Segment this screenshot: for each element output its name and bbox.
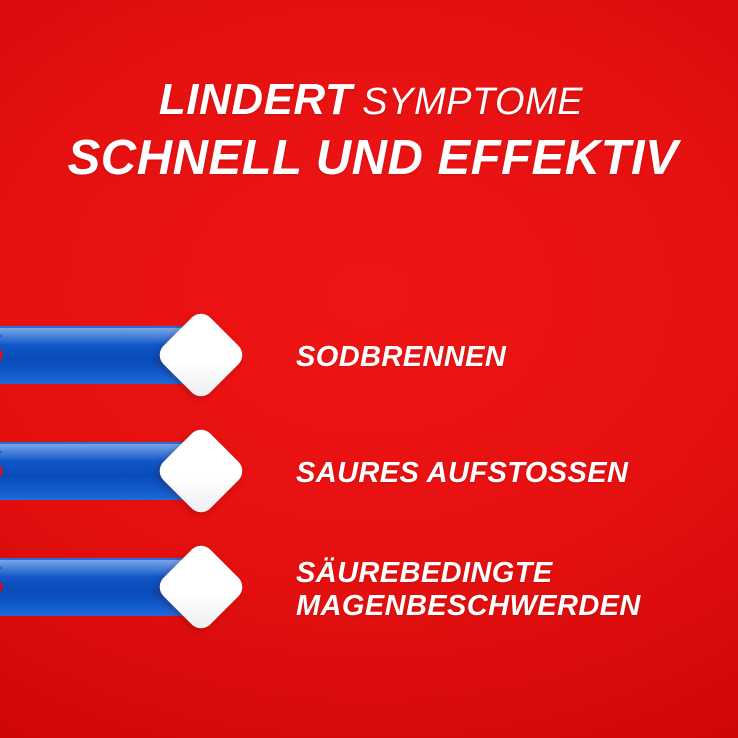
blue-bar-graphic xyxy=(0,438,268,504)
headline-line-2: SCHNELL UND EFFEKTIV xyxy=(0,134,738,183)
white-diamond-tablet-icon xyxy=(154,424,247,517)
list-item: SÄUREBEDINGTE MAGENBESCHWERDEN xyxy=(0,532,738,648)
headline-word-symptome: SYMPTOME xyxy=(362,81,583,123)
promo-poster: LINDERTSYMPTOME SCHNELL UND EFFEKTIV SOD… xyxy=(0,0,738,738)
page-title: LINDERTSYMPTOME SCHNELL UND EFFEKTIV xyxy=(0,78,738,183)
symptom-label-3-line-2: MAGENBESCHWERDEN xyxy=(296,590,726,623)
symptom-label-1: SODBRENNEN xyxy=(296,300,726,416)
headline-word-lindert: LINDERT xyxy=(159,75,352,124)
white-diamond-tablet-icon xyxy=(154,540,247,633)
symptom-label-2-line-1: SAURES AUFSTOSSEN xyxy=(296,457,726,490)
blue-bar-graphic xyxy=(0,322,268,388)
symptom-label-3-line-1: SÄUREBEDINGTE xyxy=(296,557,726,590)
list-item: SAURES AUFSTOSSEN xyxy=(0,416,738,532)
symptom-list: SODBRENNEN SAURES AUFSTOSSEN SÄUREBEDING… xyxy=(0,300,738,648)
headline-word-schnell-und-effektiv: SCHNELL UND EFFEKTIV xyxy=(68,131,679,185)
symptom-label-3: SÄUREBEDINGTE MAGENBESCHWERDEN xyxy=(296,532,726,648)
headline-line-1: LINDERTSYMPTOME xyxy=(0,78,738,122)
list-item: SODBRENNEN xyxy=(0,300,738,416)
symptom-label-1-line-1: SODBRENNEN xyxy=(296,341,726,374)
blue-bar-graphic xyxy=(0,554,268,620)
symptom-label-2: SAURES AUFSTOSSEN xyxy=(296,416,726,532)
white-diamond-tablet-icon xyxy=(154,308,247,401)
